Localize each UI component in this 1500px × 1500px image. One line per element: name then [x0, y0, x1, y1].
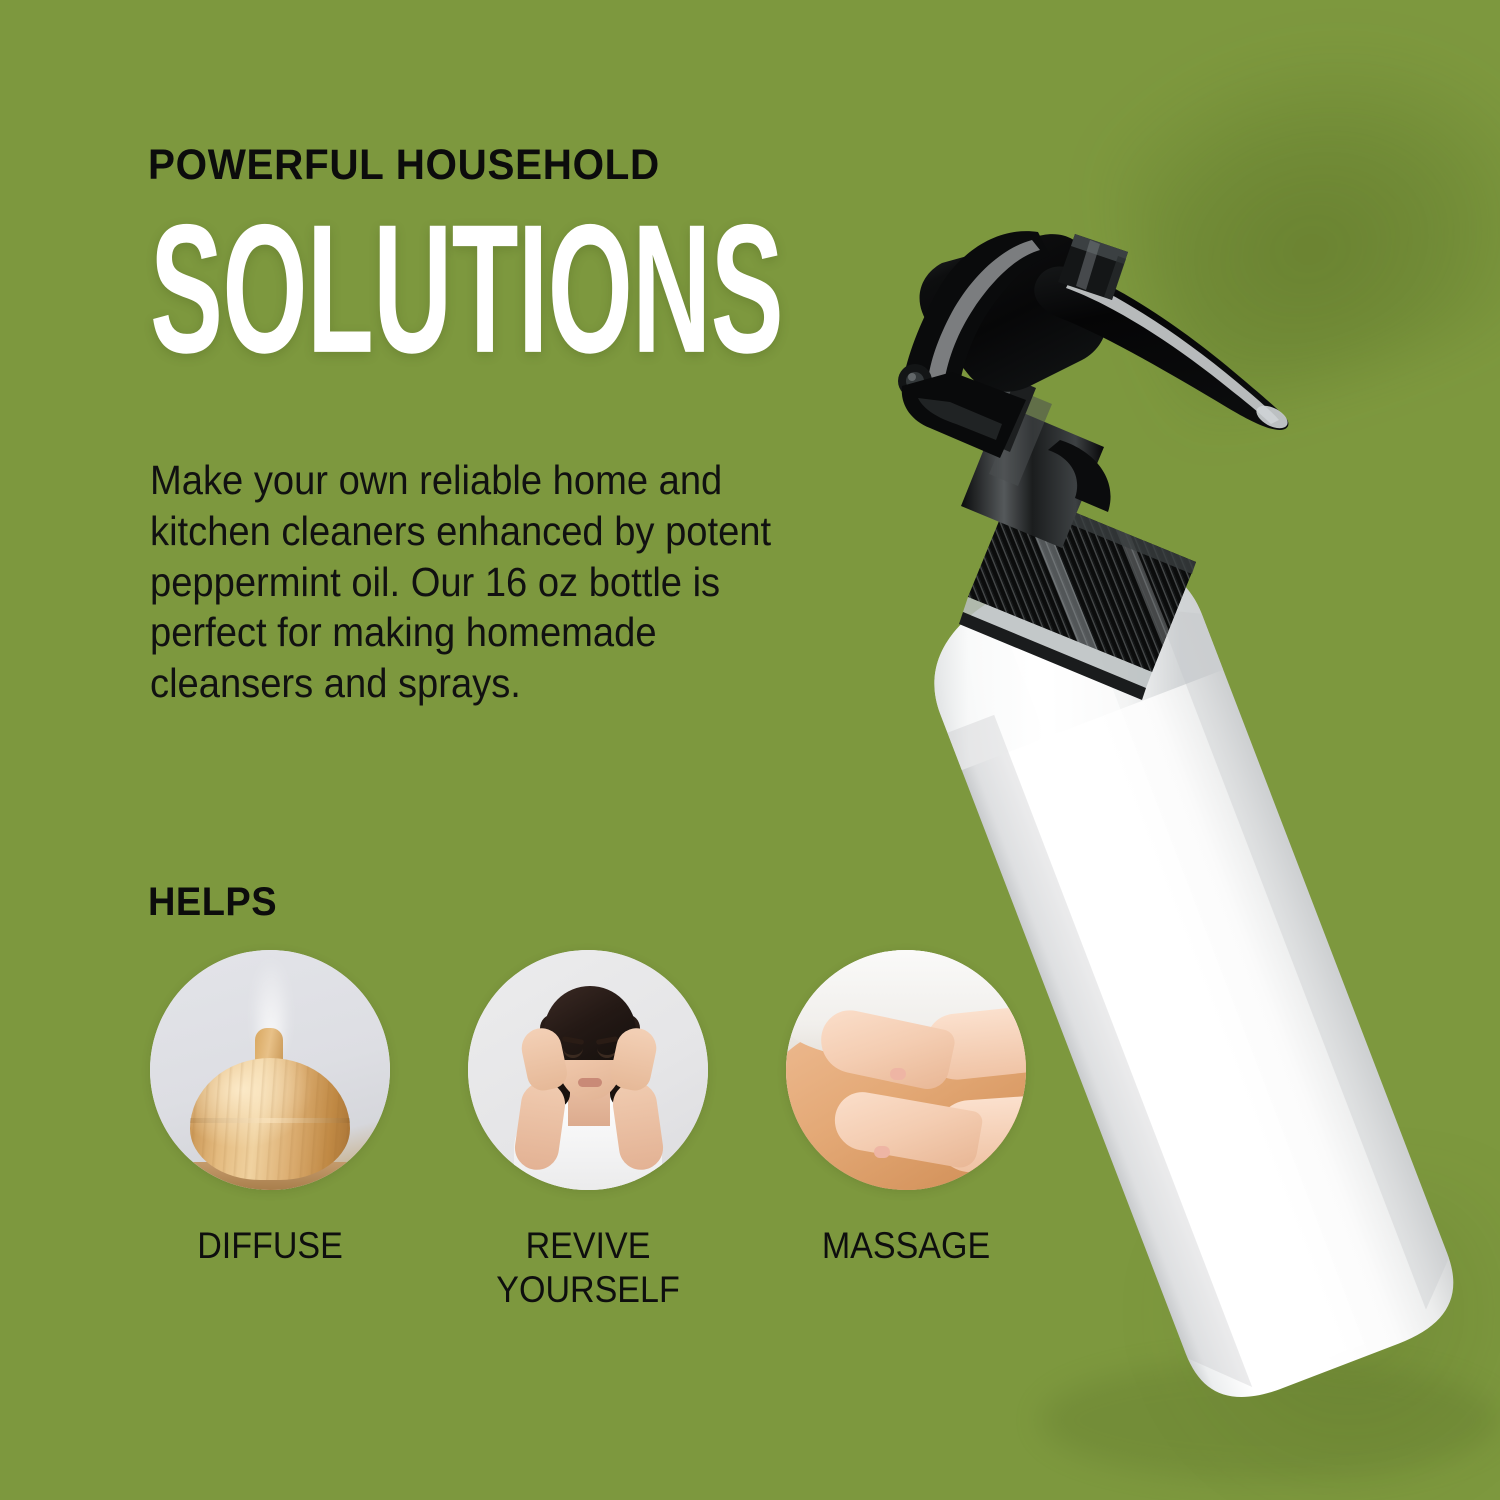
trigger-lever [1034, 267, 1291, 433]
bottle-collar [940, 470, 1230, 700]
massage-image [786, 950, 1026, 1190]
helps-row: DIFFUSE REVIVE [150, 950, 1050, 1311]
benefit-massage: MASSAGE [786, 950, 1026, 1311]
background-shadow-top [1089, 0, 1500, 427]
benefit-revive: REVIVE YOURSELF [468, 950, 708, 1311]
revive-image [468, 950, 708, 1190]
helps-label: HELPS [148, 880, 277, 925]
benefit-caption-revive-line1: REVIVE [478, 1224, 699, 1268]
spray-nozzle [1058, 234, 1128, 300]
diffuse-image [150, 950, 390, 1190]
sprayer-neck [961, 370, 1111, 548]
product-marketing-image: POWERFUL HOUSEHOLD SOLUTIONS Make your o… [0, 0, 1500, 1500]
benefit-caption-revive-line2: YOURSELF [478, 1268, 699, 1312]
page-title: SOLUTIONS [150, 218, 783, 361]
benefit-diffuse: DIFFUSE [150, 950, 390, 1311]
benefit-caption-diffuse: DIFFUSE [160, 1224, 381, 1268]
trigger-head [898, 231, 1107, 458]
background-shadow-bottom [1150, 1180, 1500, 1500]
benefit-caption-massage: MASSAGE [796, 1224, 1017, 1268]
eyebrow-heading: POWERFUL HOUSEHOLD [148, 141, 660, 190]
body-paragraph: Make your own reliable home and kitchen … [150, 455, 792, 709]
benefit-caption-revive: REVIVE YOURSELF [478, 1224, 699, 1311]
